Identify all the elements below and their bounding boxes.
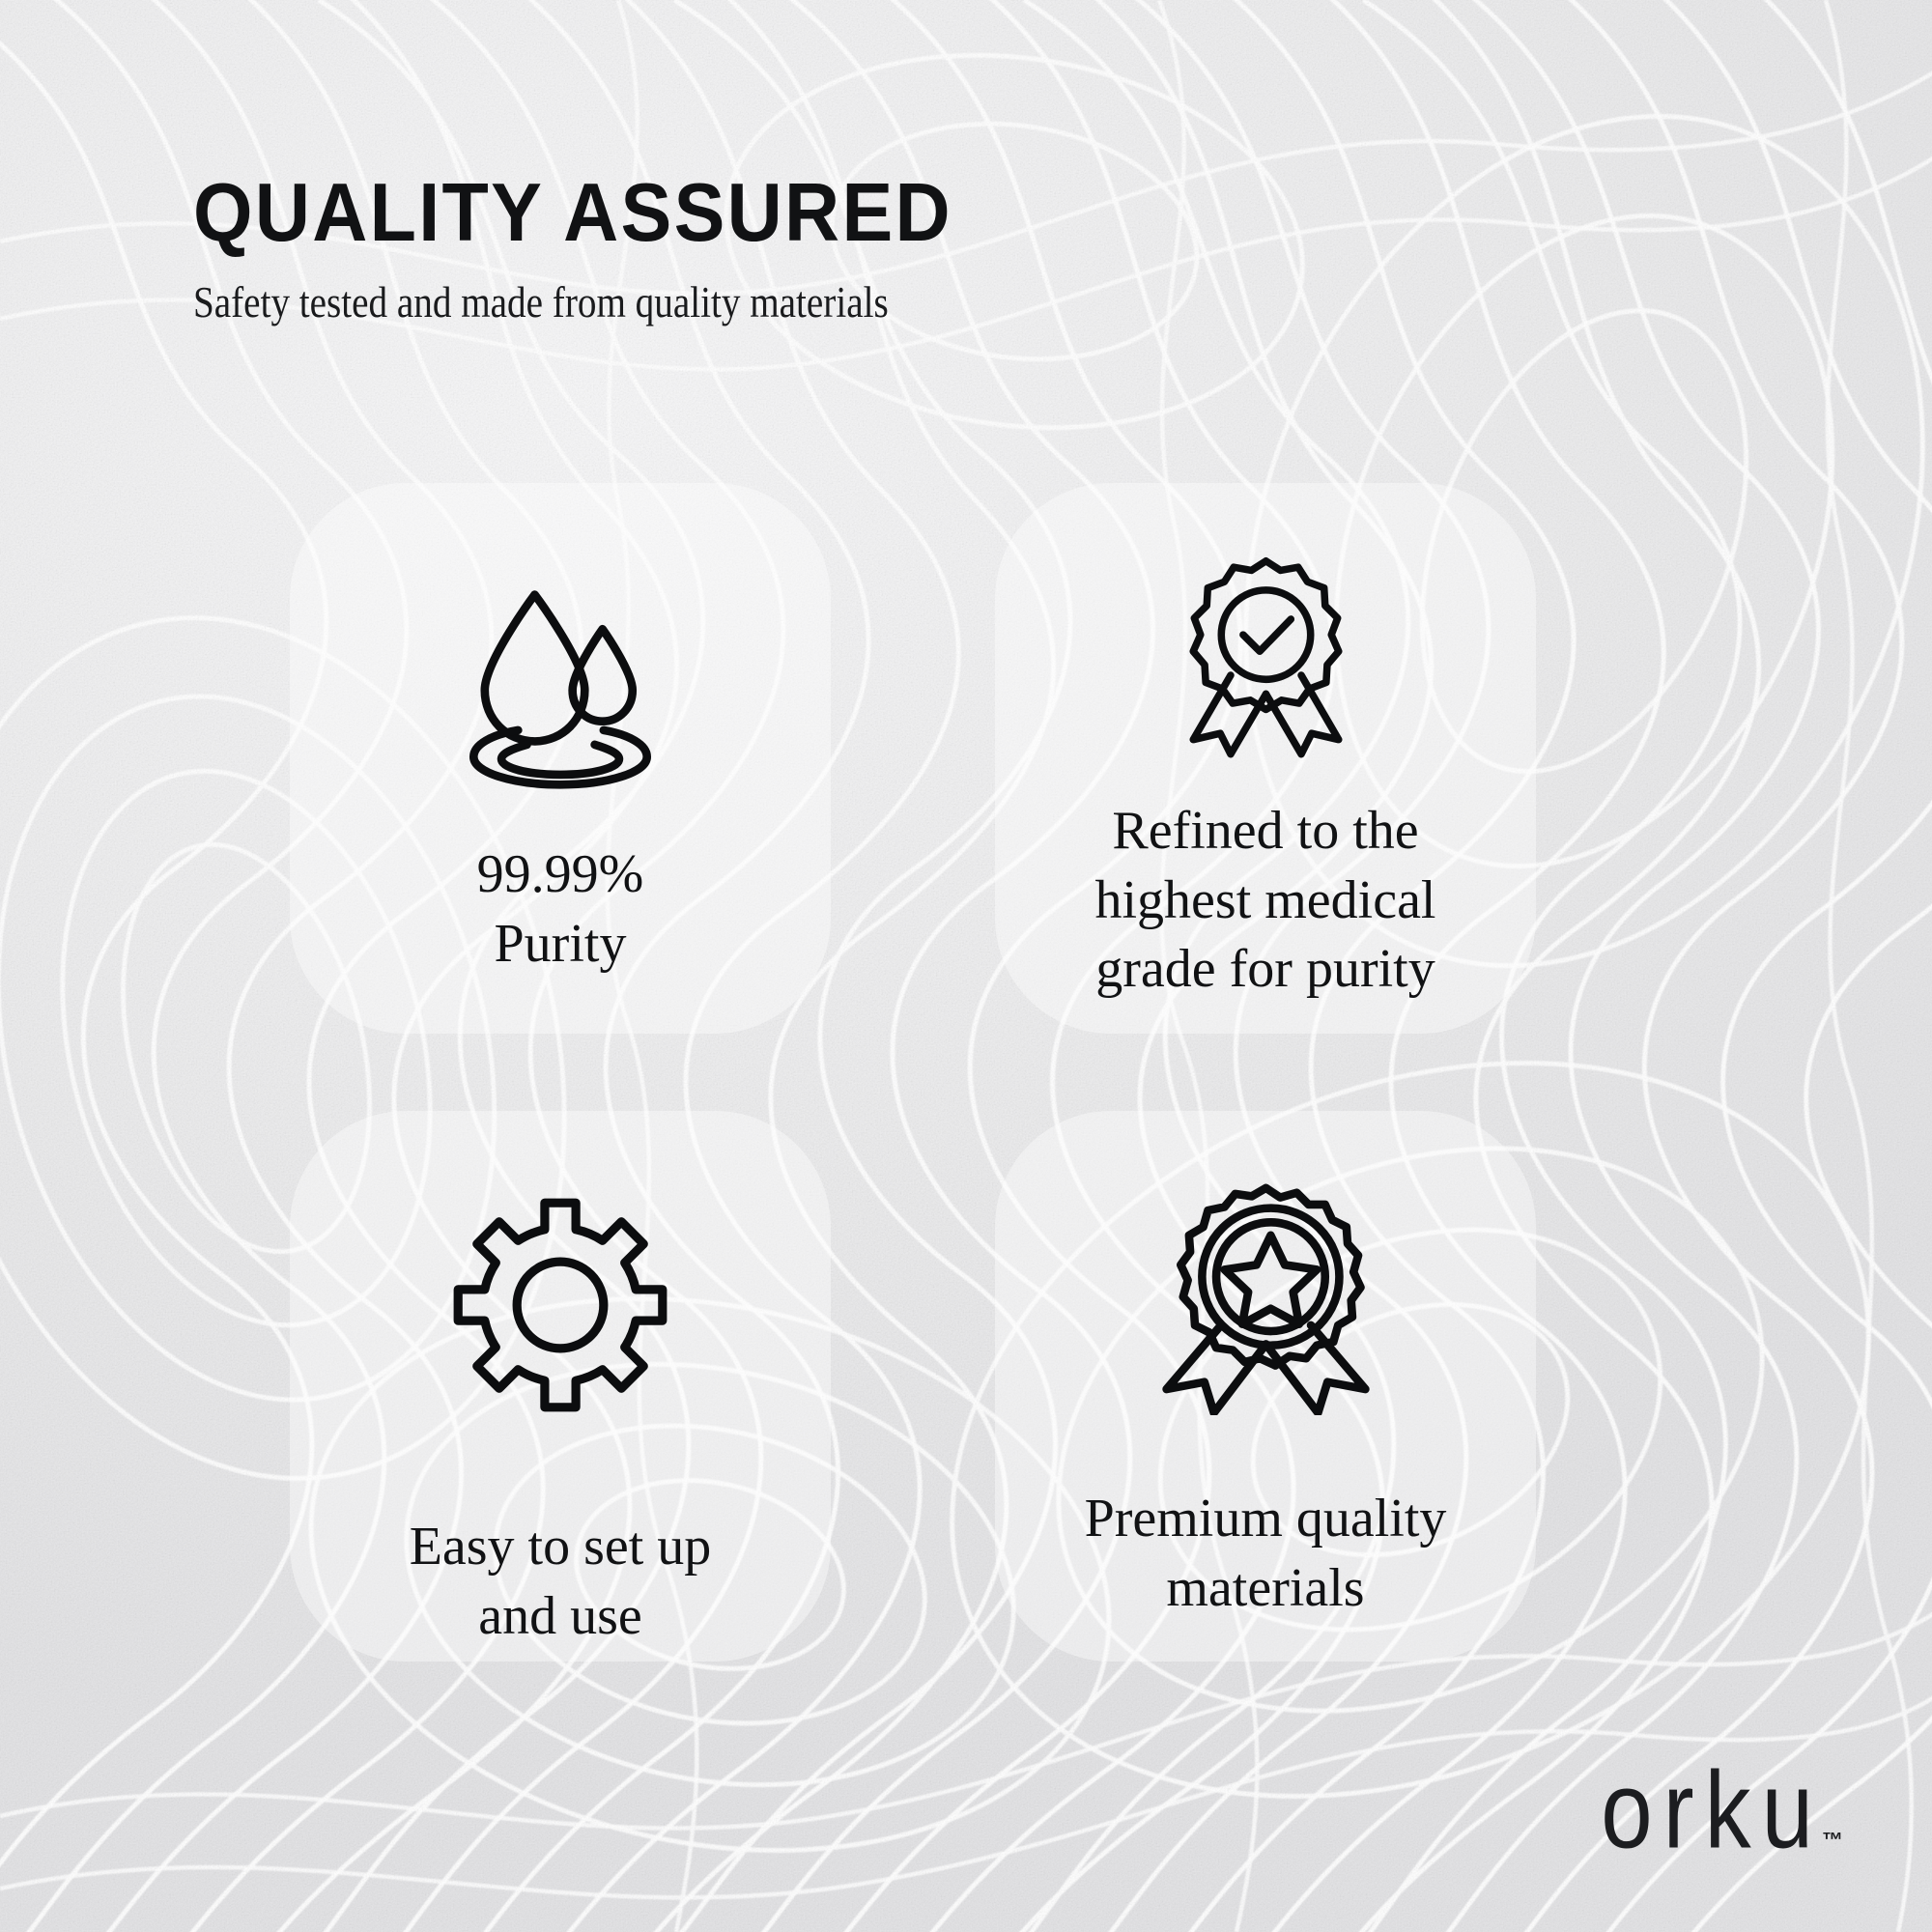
feature-card-label: Refined to the highest medical grade for… [1094,797,1435,1005]
brand-logo: orku ™ [1601,1775,1843,1862]
feature-card-label: Easy to set up and use [410,1513,712,1651]
feature-card-premium: Premium quality materials [995,1111,1536,1662]
feature-card-purity: 99.99% Purity [290,483,831,1034]
feature-card-refined: Refined to the highest medical grade for… [995,483,1536,1034]
star-medal-ribbon-icon [1148,1179,1384,1415]
page-subtitle: Safety tested and made from quality mate… [193,279,1286,327]
page-title: QUALITY ASSURED [193,172,1361,254]
logo-trademark-symbol: ™ [1822,1828,1843,1853]
logo-wordmark: orku [1601,1758,1824,1862]
water-drop-icon [449,568,671,790]
feature-card-label: Premium quality materials [1085,1485,1447,1623]
infographic-page: QUALITY ASSURED Safety tested and made f… [0,0,1932,1932]
feature-card-label: 99.99% Purity [477,840,644,979]
header: QUALITY ASSURED Safety tested and made f… [193,172,1449,327]
award-ribbon-check-icon [1162,551,1370,758]
feature-card-grid: 99.99% Purity Refined to the highest med… [290,483,1642,1662]
feature-card-easy: Easy to set up and use [290,1111,831,1662]
gear-icon [449,1194,671,1416]
